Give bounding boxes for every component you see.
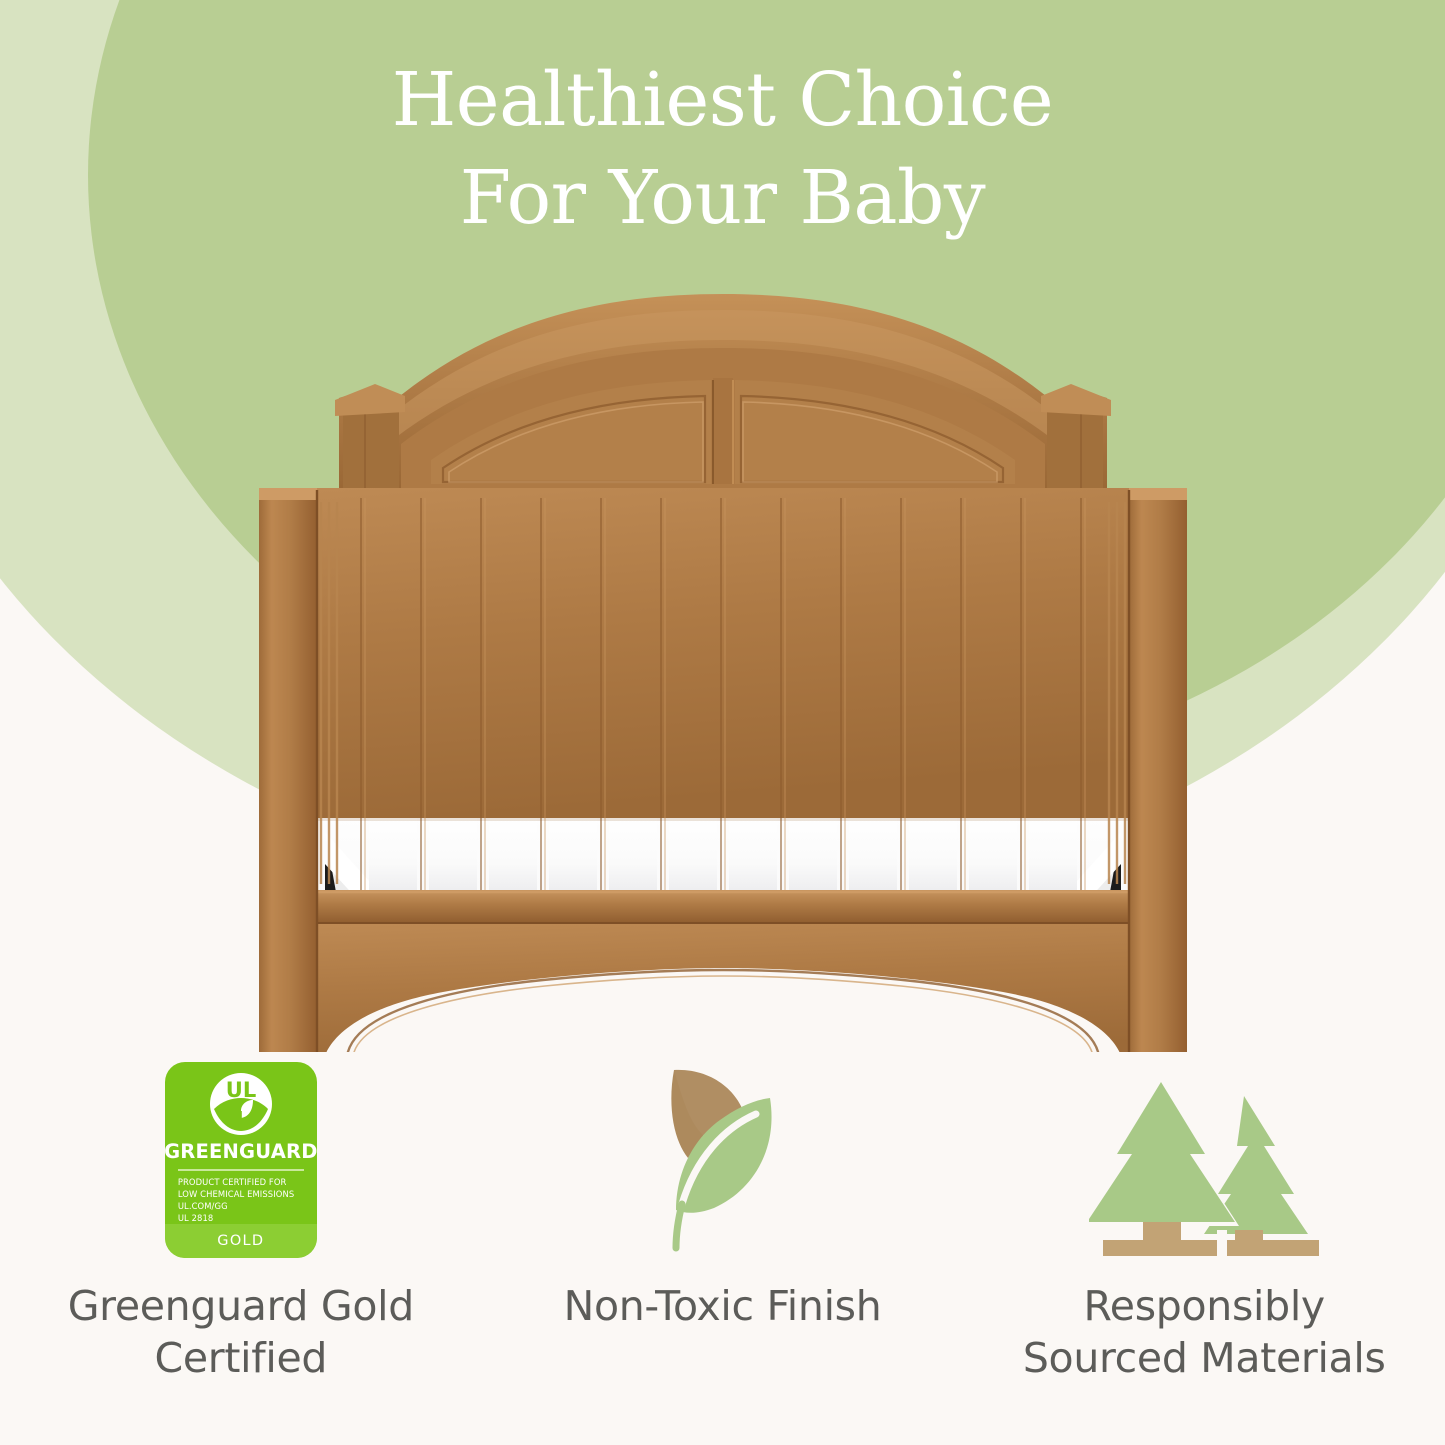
feature-greenguard: UL GREENGUARD PRODUCT CERTIFIED FOR LOW … bbox=[0, 1062, 482, 1385]
trees-icon-wrap bbox=[1089, 1062, 1319, 1258]
feature-label-sourced-materials: Responsibly Sourced Materials bbox=[1023, 1280, 1386, 1385]
greenguard-divider bbox=[178, 1169, 304, 1171]
headline-line-1: Healthiest Choice bbox=[0, 52, 1445, 150]
greenguard-icon-wrap: UL GREENGUARD PRODUCT CERTIFIED FOR LOW … bbox=[165, 1062, 317, 1258]
greenguard-gold-band: GOLD bbox=[165, 1224, 317, 1258]
crib-lower-rail bbox=[283, 890, 1163, 924]
greenguard-fine-print: PRODUCT CERTIFIED FOR LOW CHEMICAL EMISS… bbox=[178, 1177, 304, 1225]
svg-text:UL: UL bbox=[226, 1078, 256, 1102]
crib-bottom-apron bbox=[283, 924, 1163, 1052]
feature-label-greenguard: Greenguard Gold Certified bbox=[68, 1280, 414, 1385]
leaf-icon-wrap bbox=[628, 1062, 818, 1258]
trees-icon bbox=[1089, 1062, 1319, 1258]
feature-non-toxic: Non-Toxic Finish bbox=[482, 1062, 964, 1385]
greenguard-brand-text: GREENGUARD bbox=[165, 1140, 317, 1163]
feature-sourced-materials: Responsibly Sourced Materials bbox=[963, 1062, 1445, 1385]
leaf-icon bbox=[628, 1062, 818, 1258]
greenguard-gold-badge-icon: UL GREENGUARD PRODUCT CERTIFIED FOR LOW … bbox=[165, 1062, 317, 1258]
crib-product-image bbox=[243, 292, 1203, 1052]
ul-mark-icon: UL bbox=[208, 1071, 274, 1137]
feature-row: UL GREENGUARD PRODUCT CERTIFIED FOR LOW … bbox=[0, 1062, 1445, 1385]
feature-label-non-toxic: Non-Toxic Finish bbox=[564, 1280, 882, 1332]
headline-line-2: For Your Baby bbox=[0, 150, 1445, 248]
greenguard-level-text: GOLD bbox=[217, 1233, 264, 1249]
promo-poster: Healthiest Choice For Your Baby bbox=[0, 0, 1445, 1445]
headline: Healthiest Choice For Your Baby bbox=[0, 52, 1445, 247]
crib-headboard bbox=[335, 294, 1111, 488]
